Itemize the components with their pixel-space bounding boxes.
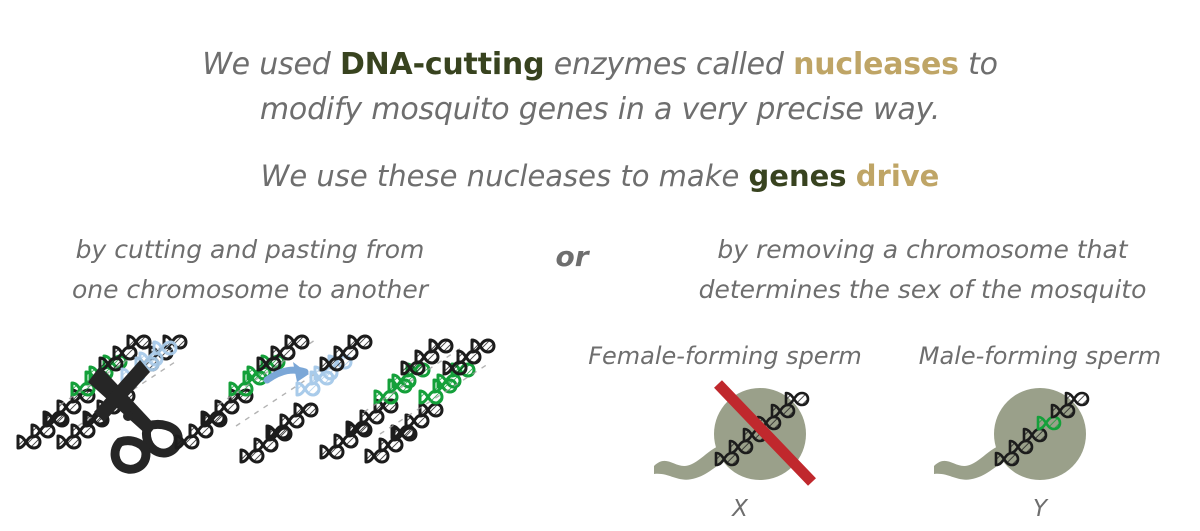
left-caption-line-1: by cutting and pasting from	[40, 230, 460, 270]
subheadline-keyword-drive: drive	[856, 159, 940, 193]
female-chromosome-label: X	[680, 496, 800, 522]
branch-divider-or: or	[512, 240, 632, 273]
right-caption-line-1: by removing a chromosome that	[650, 230, 1195, 270]
subheadline-keyword-genes: genes	[749, 159, 847, 193]
chromosome-black-lower-recipient	[241, 404, 317, 462]
left-caption-line-2: one chromosome to another	[40, 270, 460, 310]
subheadline-text: We use these nucleases to make	[261, 159, 749, 193]
chromosome-black-lower-donor	[176, 390, 252, 448]
headline-line-1: We used DNA-cutting enzymes called nucle…	[0, 42, 1200, 87]
sperm-svg	[640, 378, 1120, 498]
subheadline-space	[847, 159, 856, 193]
scissors-icon	[88, 360, 178, 469]
infographic-canvas: We used DNA-cutting enzymes called nucle…	[0, 0, 1200, 531]
panel-cut	[18, 336, 186, 469]
left-branch-caption: by cutting and pasting from one chromoso…	[40, 230, 460, 310]
headline-keyword-nucleases: nucleases	[793, 47, 959, 82]
headline: We used DNA-cutting enzymes called nucle…	[0, 42, 1200, 132]
headline-keyword-dna-cutting: DNA-cutting	[340, 47, 544, 82]
headline-line-2: modify mosquito genes in a very precise …	[0, 87, 1200, 132]
male-chromosome-label: Y	[980, 496, 1100, 522]
headline-text-1: We used	[202, 47, 340, 82]
right-branch-caption: by removing a chromosome that determines…	[650, 230, 1195, 310]
male-sperm-label: Male-forming sperm	[885, 342, 1195, 370]
female-sperm-figure	[654, 384, 812, 482]
cut-paste-svg	[8, 330, 488, 505]
female-sperm-label: Female-forming sperm	[565, 342, 885, 370]
male-sperm-figure	[934, 388, 1088, 480]
headline-text-3: to	[959, 47, 998, 82]
right-caption-line-2: determines the sex of the mosquito	[650, 270, 1195, 310]
sperm-illustration	[640, 378, 1120, 498]
subheadline: We use these nucleases to make genes dri…	[0, 156, 1200, 196]
headline-text-2: enzymes called	[544, 47, 793, 82]
cut-and-paste-illustration	[8, 330, 488, 505]
